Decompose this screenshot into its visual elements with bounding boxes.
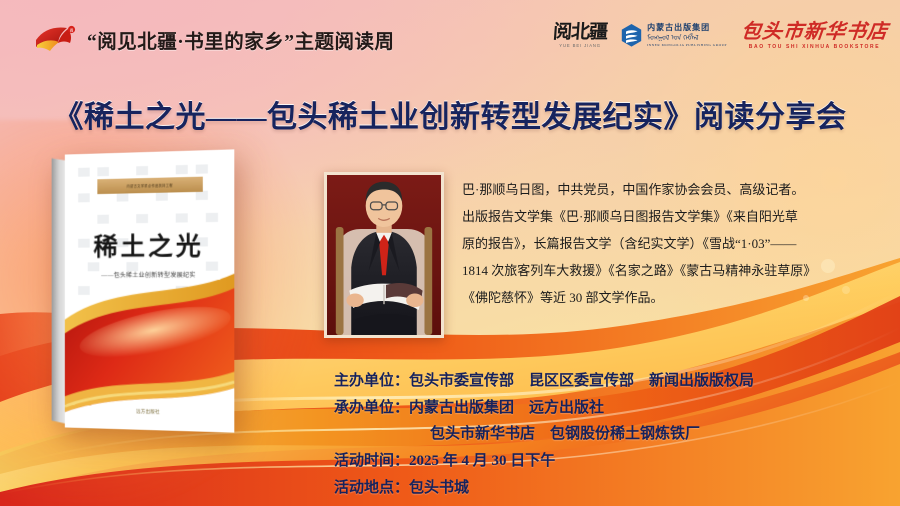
publishing-group-mark-icon (621, 24, 642, 47)
poster-header: 阅 “阅见北疆·书里的家乡”主题阅读周 阅北疆 YUE BEI JIANG 内蒙… (0, 24, 900, 64)
bio-line: 原的报告》，长篇报告文学（含纪实文学）《雪战“1·03”—— (462, 230, 884, 257)
co-organizer-value-line2: 包头市新华书店 包钢股份稀土钢炼铁厂 (430, 426, 700, 442)
book-cover: 内蒙古文学重点作品扶持工程 稀土之光 ——包头稀土业创新转型发展纪实 巴·那顺乌… (65, 149, 234, 432)
event-place-label: 活动地点： (334, 480, 409, 496)
svg-text:阅: 阅 (70, 27, 74, 32)
partner-logos: 阅北疆 YUE BEI JIANG 内蒙古出版集团 ᠮᠣᠩᠭᠣᠯ ᠤᠨ ᠬᠡᠪᠯ… (553, 22, 888, 50)
co-organizer-value-line1: 内蒙古出版集团 远方出版社 (409, 400, 604, 416)
event-place-value: 包头书城 (409, 480, 469, 496)
event-poster: 阅 “阅见北疆·书里的家乡”主题阅读周 阅北疆 YUE BEI JIANG 内蒙… (0, 0, 900, 506)
publishing-group-name-mongolian: ᠮᠣᠩᠭᠣᠯ ᠤᠨ ᠬᠡᠪᠯᠡᠯ (647, 35, 727, 42)
campaign-slogan-group: 阅 “阅见北疆·书里的家乡”主题阅读周 (34, 24, 395, 54)
bio-line: 1814 次旅客列车大救援》《名家之路》《蒙古马精神永驻草原》 (462, 257, 884, 284)
event-place-row: 活动地点：包头书城 (334, 475, 894, 502)
publishing-group-text: 内蒙古出版集团 ᠮᠣᠩᠭᠣᠯ ᠤᠨ ᠬᠡᠪᠯᠡᠯ INNER MONGOLIA … (647, 24, 727, 47)
cover-program-banner-text: 内蒙古文学重点作品扶持工程 (127, 183, 173, 189)
inner-mongolia-publishing-group-logo: 内蒙古出版集团 ᠮᠣᠩᠭᠣᠯ ᠤᠨ ᠬᠡᠪᠯᠡᠯ INNER MONGOLIA … (621, 24, 727, 47)
co-organizer-row: 承办单位：内蒙古出版集团 远方出版社 (334, 395, 894, 422)
yue-bei-jiang-logo-zh: 阅北疆 (552, 23, 607, 42)
co-organizer-row-continued: 包头市新华书店 包钢股份稀土钢炼铁厂 (334, 421, 894, 448)
author-portrait (324, 172, 444, 338)
cover-program-banner: 内蒙古文学重点作品扶持工程 (98, 177, 203, 194)
author-portrait-illustration-icon (327, 175, 441, 335)
organizer-row: 主办单位：包头市委宣传部 昆区区委宣传部 新闻出版版权局 (334, 368, 894, 395)
bio-line: 巴·那顺乌日图，中共党员，中国作家协会会员、高级记者。 (462, 176, 884, 203)
event-time-value: 2025 年 4 月 30 日下午 (409, 453, 555, 469)
organizer-value: 包头市委宣传部 昆区区委宣传部 新闻出版版权局 (409, 373, 754, 389)
yue-bei-jiang-logo: 阅北疆 YUE BEI JIANG (553, 23, 607, 48)
red-flag-emblem-icon: 阅 (34, 24, 78, 54)
xinhua-bookstore-romanization: BAO TOU SHI XINHUA BOOKSTORE (749, 45, 880, 50)
co-organizer-label: 承办单位： (334, 400, 409, 416)
xinhua-bookstore-name-zh: 包头市新华书店 (740, 22, 889, 42)
yue-bei-jiang-logo-romanization: YUE BEI JIANG (559, 44, 601, 48)
event-details: 主办单位：包头市委宣传部 昆区区委宣传部 新闻出版版权局 承办单位：内蒙古出版集… (334, 368, 894, 501)
author-biography: 巴·那顺乌日图，中共党员，中国作家协会会员、高级记者。 出版报告文学集《巴·那顺… (462, 176, 884, 311)
book-front-face: 内蒙古文学重点作品扶持工程 稀土之光 ——包头稀土业创新转型发展纪实 巴·那顺乌… (65, 149, 234, 432)
baotou-xinhua-bookstore-logo: 包头市新华书店 BAO TOU SHI XINHUA BOOKSTORE (741, 22, 888, 50)
page-title: 《稀土之光——包头稀土业创新转型发展纪实》阅读分享会 (0, 92, 900, 136)
event-time-row: 活动时间：2025 年 4 月 30 日下午 (334, 448, 894, 475)
campaign-slogan-text: “阅见北疆·书里的家乡”主题阅读周 (87, 25, 395, 54)
publishing-group-name-en: INNER MONGOLIA PUBLISHING GROUP (647, 44, 727, 48)
publishing-group-name-zh: 内蒙古出版集团 (647, 24, 727, 32)
bio-line: 《佛陀慈怀》等近 30 部文学作品。 (462, 284, 884, 311)
organizer-label: 主办单位： (334, 373, 409, 389)
bio-line: 出版报告文学集《巴·那顺乌日图报告文学集》《来自阳光草 (462, 203, 884, 230)
event-time-label: 活动时间： (334, 453, 409, 469)
